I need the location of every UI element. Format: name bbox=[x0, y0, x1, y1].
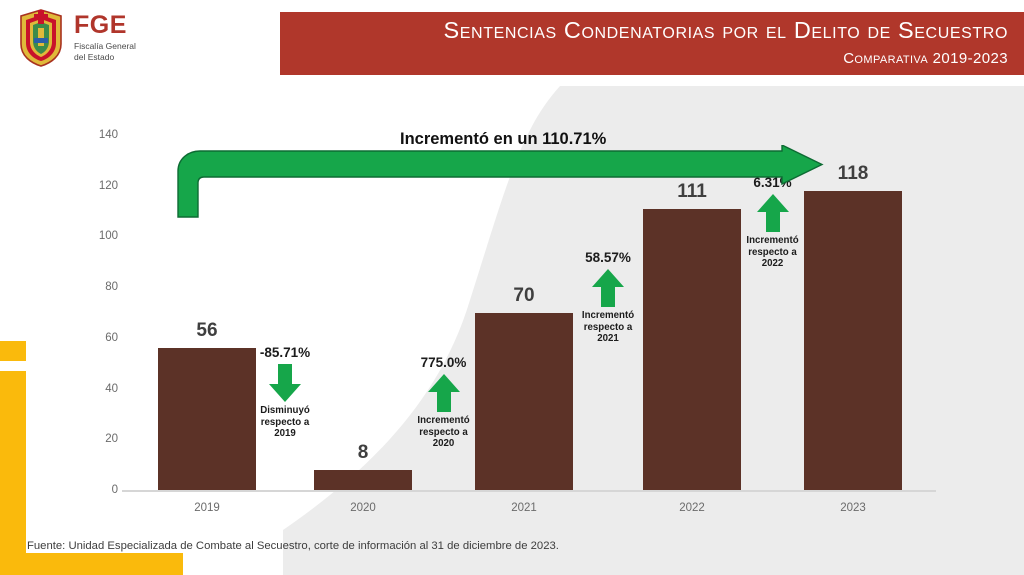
bar-value-2023: 118 bbox=[838, 163, 869, 185]
bar-value-2021: 70 bbox=[513, 285, 534, 307]
y-tick-80: 80 bbox=[78, 281, 118, 293]
y-tick-20: 20 bbox=[78, 433, 118, 445]
x-label-2020: 2020 bbox=[350, 502, 376, 514]
y-axis-ticks: 020406080100120140 bbox=[78, 90, 118, 510]
x-label-2023: 2023 bbox=[840, 502, 866, 514]
y-tick-40: 40 bbox=[78, 383, 118, 395]
accent-bar-horizontal bbox=[0, 553, 183, 575]
long-right-arrow-icon bbox=[170, 145, 830, 220]
arrow-up-icon bbox=[427, 373, 461, 413]
x-axis-line bbox=[122, 490, 936, 492]
page-subtitle: Comparativa 2019-2023 bbox=[843, 50, 1008, 67]
x-label-2021: 2021 bbox=[511, 502, 537, 514]
brand-acronym: FGE bbox=[74, 13, 136, 38]
arrow-up-icon bbox=[591, 268, 625, 308]
y-tick-120: 120 bbox=[78, 180, 118, 192]
delta-2021-to-2022: 58.57%Incrementórespecto a2021 bbox=[562, 250, 654, 345]
y-tick-140: 140 bbox=[78, 129, 118, 141]
bar-value-2020: 8 bbox=[358, 442, 369, 464]
delta-note: Incrementórespecto a2020 bbox=[398, 415, 490, 450]
source-note: Fuente: Unidad Especializada de Combate … bbox=[27, 540, 559, 552]
x-label-2022: 2022 bbox=[679, 502, 705, 514]
brand-name-line2: del Estado bbox=[74, 52, 136, 63]
x-label-2019: 2019 bbox=[194, 502, 220, 514]
brand-logo: FGE Fiscalía General del Estado bbox=[17, 8, 136, 68]
title-bar: Sentencias Condenatorias por el Delito d… bbox=[280, 12, 1024, 75]
delta-2020-to-2021: 775.0%Incrementórespecto a2020 bbox=[398, 355, 490, 450]
overall-change-label: Incrementó en un 110.71% bbox=[400, 130, 606, 149]
y-tick-100: 100 bbox=[78, 230, 118, 242]
bar-value-2019: 56 bbox=[196, 320, 217, 342]
delta-percent: 775.0% bbox=[398, 355, 490, 370]
arrow-down-icon bbox=[268, 363, 302, 403]
brand-name-line1: Fiscalía General bbox=[74, 41, 136, 52]
state-crest-icon bbox=[17, 8, 65, 68]
y-tick-0: 0 bbox=[78, 484, 118, 496]
delta-note: Incrementórespecto a2021 bbox=[562, 310, 654, 345]
delta-2019-to-2020: -85.71%Disminuyórespecto a2019 bbox=[239, 345, 331, 440]
page-title: Sentencias Condenatorias por el Delito d… bbox=[444, 17, 1009, 44]
delta-note: Incrementórespecto a2022 bbox=[727, 235, 819, 270]
delta-percent: 58.57% bbox=[562, 250, 654, 265]
delta-percent: -85.71% bbox=[239, 345, 331, 360]
bar-2023[interactable] bbox=[804, 191, 902, 490]
bar-2021[interactable] bbox=[475, 313, 573, 491]
slide-canvas: FGE Fiscalía General del Estado Sentenci… bbox=[0, 0, 1024, 575]
delta-note: Disminuyórespecto a2019 bbox=[239, 405, 331, 440]
y-tick-60: 60 bbox=[78, 332, 118, 344]
bar-2020[interactable] bbox=[314, 470, 412, 490]
